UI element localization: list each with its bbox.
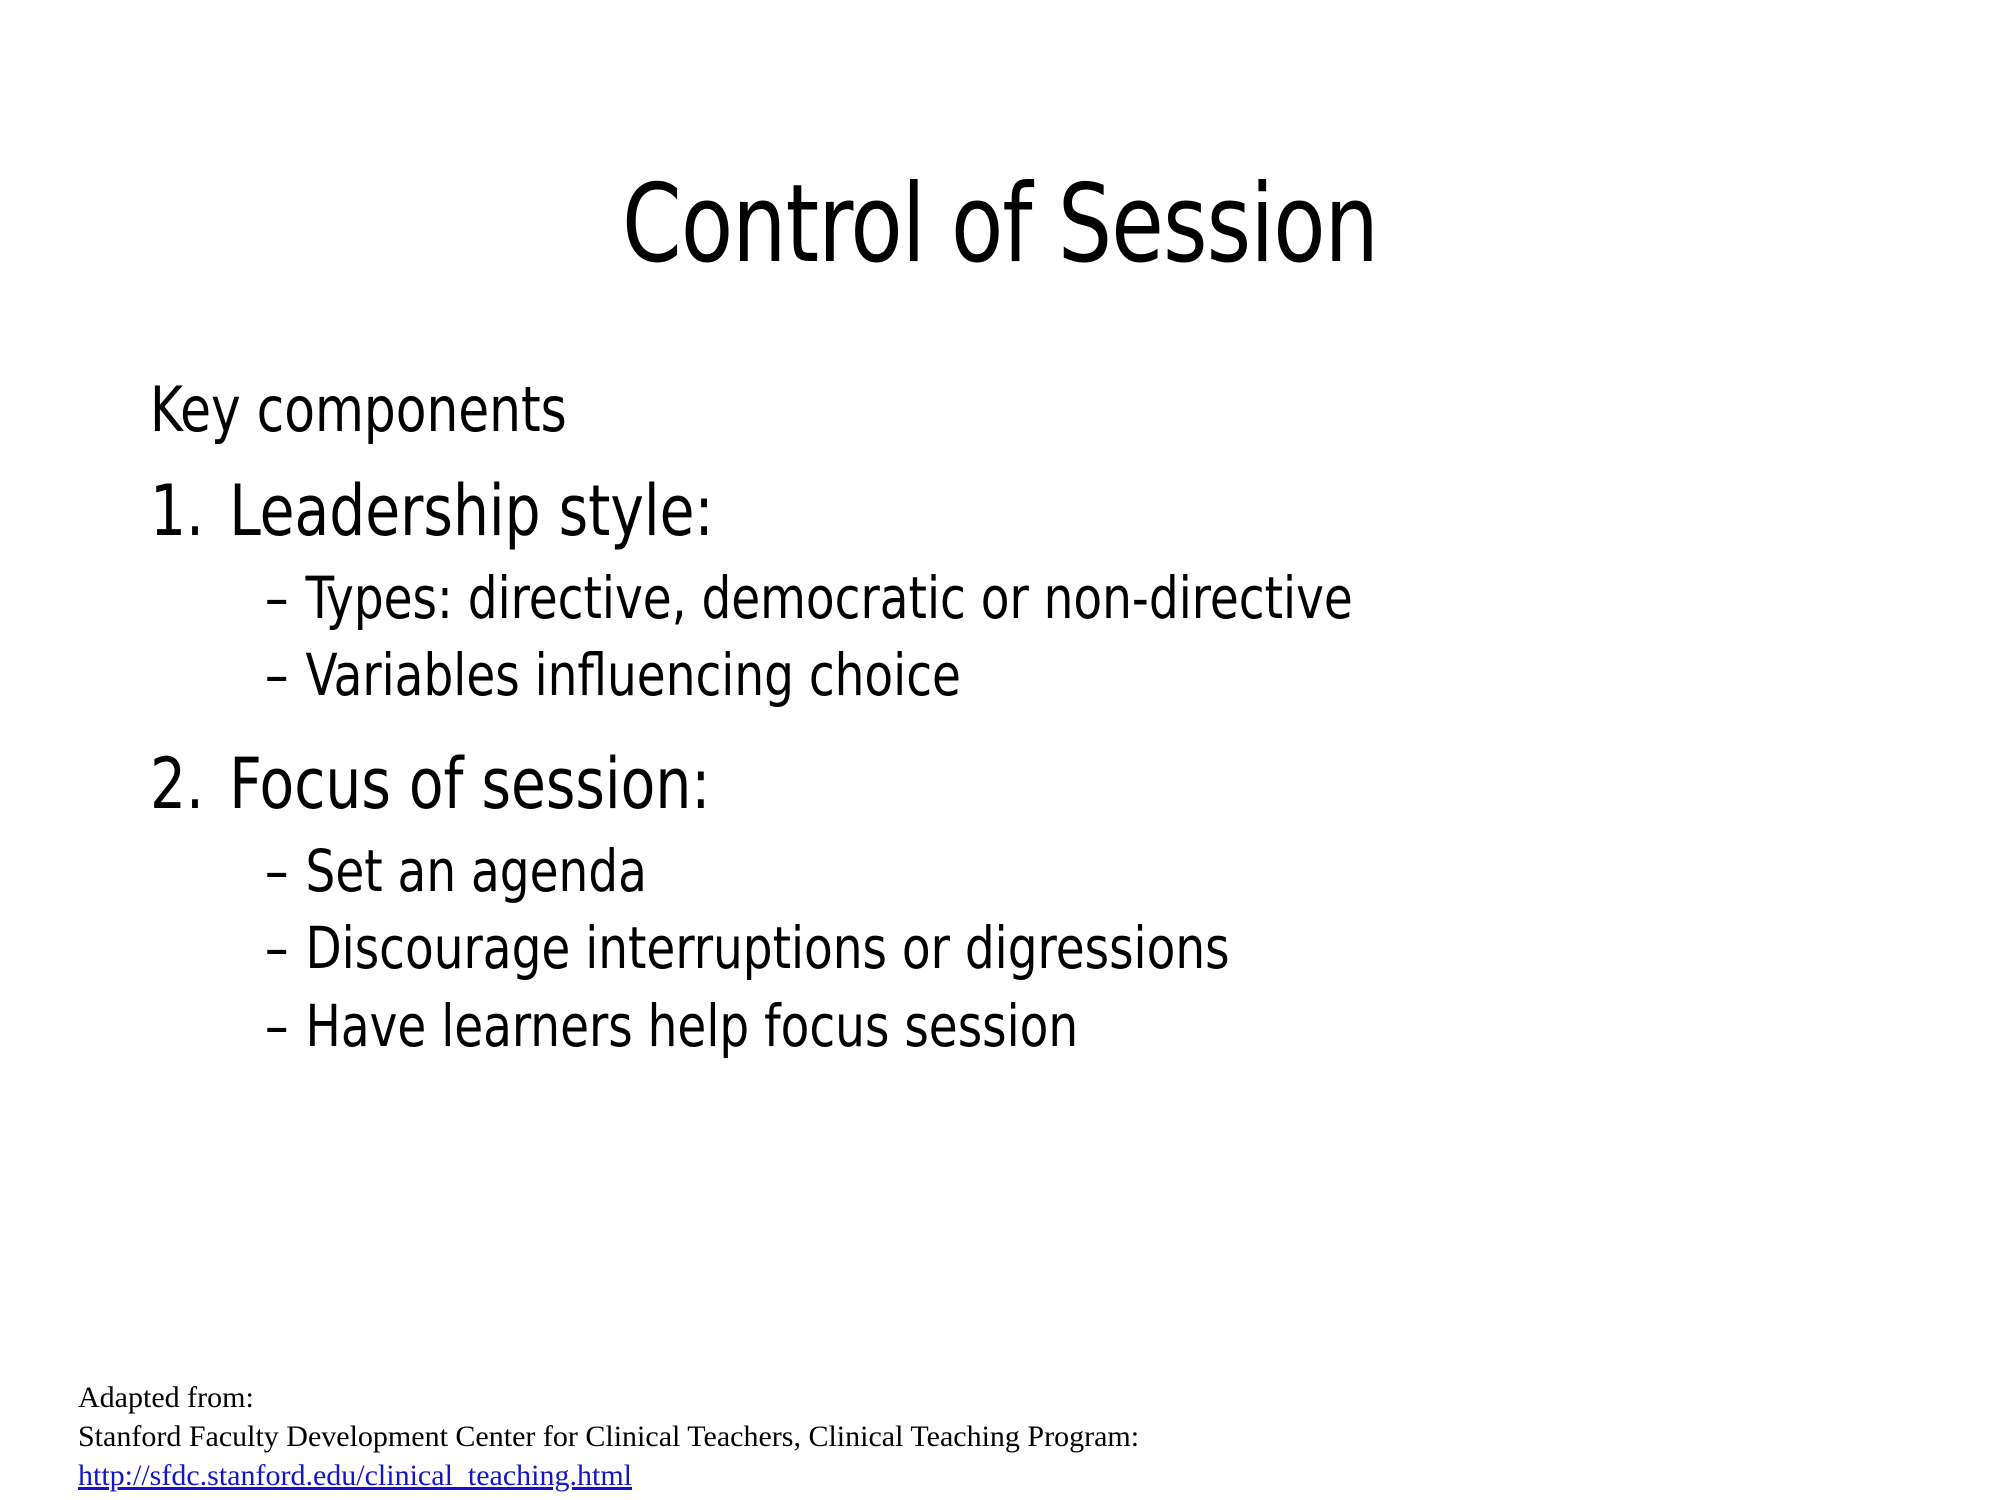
numbered-item-2: 2. Focus of session:: [150, 740, 1761, 828]
attribution-block: Adapted from: Stanford Faculty Developme…: [78, 1378, 1139, 1495]
presentation-slide: Control of Session Key components 1. Lea…: [0, 0, 2000, 1500]
source-url-link[interactable]: http://sfdc.stanford.edu/clinical_teachi…: [78, 1459, 632, 1492]
sub-bullet-2-2-label: Discourage interruptions or digressions: [306, 911, 1230, 986]
sub-bullet-2-1-label: Set an agenda: [306, 834, 647, 909]
numbered-item-1-marker: 1.: [150, 467, 229, 555]
dash-icon: –: [265, 911, 306, 986]
attribution-line-1: Adapted from:: [78, 1378, 1139, 1417]
sub-bullet-1-2: – Variables influencing choice: [265, 638, 1773, 713]
attribution-line-2: Stanford Faculty Development Center for …: [78, 1417, 1139, 1456]
slide-title: Control of Session: [120, 168, 1880, 281]
sub-bullet-2-2: – Discourage interruptions or digression…: [265, 911, 1773, 986]
sub-bullet-1-1-label: Types: directive, democratic or non-dire…: [306, 561, 1353, 636]
slide-body: Key components 1. Leadership style: – Ty…: [150, 370, 1940, 1066]
numbered-item-1: 1. Leadership style:: [150, 467, 1761, 555]
dash-icon: –: [265, 989, 306, 1064]
body-heading: Key components: [150, 370, 1761, 451]
dash-icon: –: [265, 561, 306, 636]
sub-bullet-2-1: – Set an agenda: [265, 834, 1773, 909]
dash-icon: –: [265, 638, 306, 713]
sub-bullet-1-1: – Types: directive, democratic or non-di…: [265, 561, 1773, 636]
attribution-link-line: http://sfdc.stanford.edu/clinical_teachi…: [78, 1456, 1139, 1495]
numbered-item-2-marker: 2.: [150, 740, 229, 828]
dash-icon: –: [265, 834, 306, 909]
sub-bullet-1-2-label: Variables influencing choice: [306, 638, 961, 713]
sub-bullet-2-3: – Have learners help focus session: [265, 989, 1773, 1064]
numbered-item-2-label: Focus of session:: [229, 740, 710, 828]
numbered-item-1-label: Leadership style:: [229, 467, 713, 555]
sub-bullet-2-3-label: Have learners help focus session: [306, 989, 1079, 1064]
